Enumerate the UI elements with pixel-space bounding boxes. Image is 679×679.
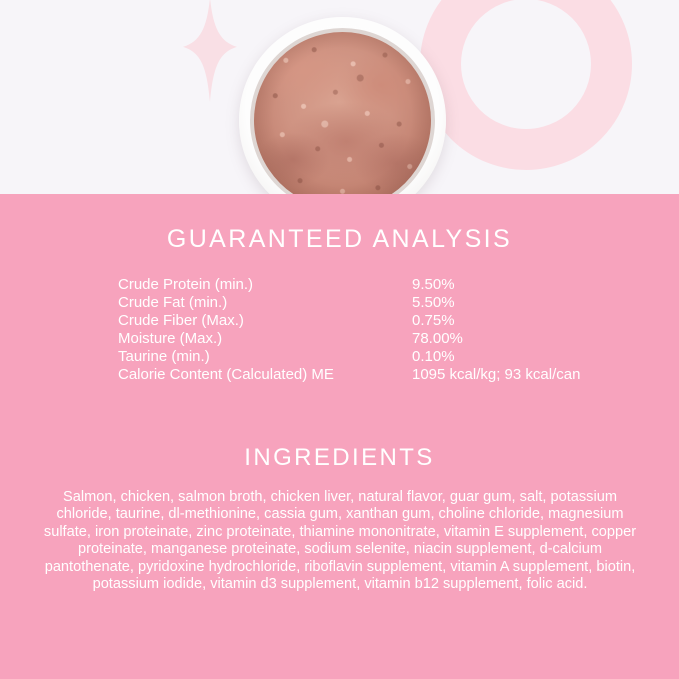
pink-ring-decoration-icon <box>420 0 632 170</box>
guaranteed-analysis-heading: GUARANTEED ANALYSIS <box>0 225 679 254</box>
hero-section <box>0 0 679 194</box>
food-bowl-image <box>239 17 446 194</box>
nutrient-label: Crude Protein (min.) <box>118 276 412 294</box>
nutrient-value: 78.00% <box>412 330 463 348</box>
table-row: Crude Protein (min.) 9.50% <box>118 276 578 294</box>
table-row: Taurine (min.) 0.10% <box>118 348 578 366</box>
nutrient-value: 1095 kcal/kg; 93 kcal/can <box>412 366 580 384</box>
table-row: Moisture (Max.) 78.00% <box>118 330 578 348</box>
guaranteed-analysis-table: Crude Protein (min.) 9.50% Crude Fat (mi… <box>118 276 578 384</box>
product-info-page: GUARANTEED ANALYSIS Crude Protein (min.)… <box>0 0 679 679</box>
nutrient-label: Moisture (Max.) <box>118 330 412 348</box>
nutrition-panel: GUARANTEED ANALYSIS Crude Protein (min.)… <box>0 194 679 679</box>
nutrient-value: 9.50% <box>412 276 455 294</box>
nutrient-label: Calorie Content (Calculated) ME <box>118 366 412 384</box>
table-row: Crude Fat (min.) 5.50% <box>118 294 578 312</box>
ingredients-text: Salmon, chicken, salmon broth, chicken l… <box>38 489 642 593</box>
nutrient-label: Crude Fiber (Max.) <box>118 312 412 330</box>
nutrient-value: 0.10% <box>412 348 455 366</box>
pate-food-surface <box>254 32 431 194</box>
table-row: Calorie Content (Calculated) ME 1095 kca… <box>118 366 578 384</box>
nutrient-label: Taurine (min.) <box>118 348 412 366</box>
table-row: Crude Fiber (Max.) 0.75% <box>118 312 578 330</box>
nutrient-value: 0.75% <box>412 312 455 330</box>
nutrient-value: 5.50% <box>412 294 455 312</box>
nutrient-label: Crude Fat (min.) <box>118 294 412 312</box>
ingredients-heading: INGREDIENTS <box>0 444 679 472</box>
